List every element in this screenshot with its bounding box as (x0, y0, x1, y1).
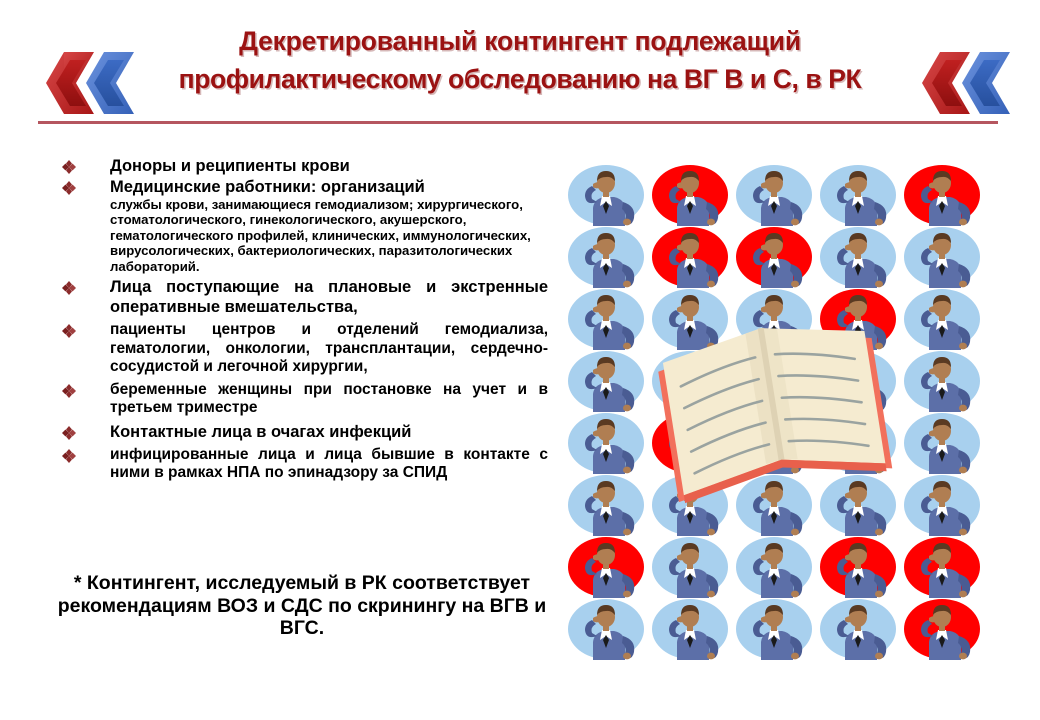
open-book-icon (650, 310, 900, 515)
saluting-person-icon-highlighted (902, 596, 982, 660)
list-item: беременные женщины при постановке на уче… (58, 381, 548, 418)
footnote-text: * Контингент, исследуемый в РК соответст… (52, 572, 552, 640)
saluting-person-icon (734, 534, 814, 598)
saluting-person-icon (566, 224, 646, 288)
list-item-text: Доноры и реципиенты крови (110, 156, 548, 176)
list-item-text: Лица поступающие на плановые и экстренны… (110, 277, 548, 317)
list-item: Медицинские работники: организаций служб… (58, 177, 548, 274)
saluting-person-icon (902, 472, 982, 536)
title-line-1: Декретированный контингент подлежащий (90, 22, 950, 60)
saluting-person-icon-highlighted (902, 162, 982, 226)
list-item: пациенты центров и отделений гемодиализа… (58, 321, 548, 377)
list-item: Контактные лица в очагах инфекций (58, 422, 548, 442)
title-divider (38, 121, 998, 124)
diamond-cluster-bullet-icon (62, 160, 76, 174)
page-title: Декретированный контингент подлежащий пр… (90, 22, 950, 98)
bullet-list: Доноры и реципиенты крови Медицинские ра… (58, 156, 548, 484)
list-item: инфицированные лица и лица бывшие в конт… (58, 446, 548, 483)
saluting-person-icon-highlighted (902, 534, 982, 598)
saluting-person-icon (566, 472, 646, 536)
saluting-person-icon (566, 410, 646, 474)
list-item: Доноры и реципиенты крови (58, 156, 548, 176)
diamond-cluster-bullet-icon (62, 181, 76, 195)
saluting-person-icon-highlighted (734, 224, 814, 288)
saluting-person-icon (902, 348, 982, 412)
slide: Декретированный контингент подлежащий пр… (0, 0, 1040, 720)
saluting-person-icon (818, 162, 898, 226)
saluting-person-icon (734, 162, 814, 226)
saluting-person-icon (818, 224, 898, 288)
diamond-cluster-bullet-icon (62, 426, 76, 440)
list-item: Лица поступающие на плановые и экстренны… (58, 277, 548, 317)
diamond-cluster-bullet-icon (62, 281, 76, 295)
list-item-lead-text: Медицинские работники: организаций (110, 177, 548, 197)
diamond-cluster-bullet-icon (62, 384, 76, 398)
diamond-cluster-bullet-icon (62, 449, 76, 463)
saluting-person-icon (902, 410, 982, 474)
saluting-person-icon-highlighted (566, 534, 646, 598)
saluting-person-icon (818, 596, 898, 660)
list-item-text: Контактные лица в очагах инфекций (110, 422, 548, 442)
saluting-person-icon (650, 596, 730, 660)
saluting-person-icon-highlighted (650, 162, 730, 226)
saluting-person-icon (566, 348, 646, 412)
title-line-2: профилактическому обследованию на ВГ В и… (90, 60, 950, 98)
diamond-cluster-bullet-icon (62, 324, 76, 338)
saluting-person-icon (902, 224, 982, 288)
list-item-text: беременные женщины при постановке на уче… (110, 381, 548, 418)
saluting-person-icon (566, 286, 646, 350)
saluting-person-icon (650, 534, 730, 598)
saluting-person-icon-highlighted (818, 534, 898, 598)
list-item-text: инфицированные лица и лица бывшие в конт… (110, 446, 548, 483)
title-block: Декретированный контингент подлежащий пр… (0, 22, 1040, 108)
list-item-text: службы крови, занимающиеся гемодиализом;… (58, 197, 548, 274)
saluting-person-icon (902, 286, 982, 350)
saluting-person-icon (566, 162, 646, 226)
saluting-person-icon (734, 596, 814, 660)
list-item-text: пациенты центров и отделений гемодиализа… (110, 321, 548, 377)
people-grid-with-book (560, 160, 1030, 670)
saluting-person-icon-highlighted (650, 224, 730, 288)
saluting-person-icon (566, 596, 646, 660)
